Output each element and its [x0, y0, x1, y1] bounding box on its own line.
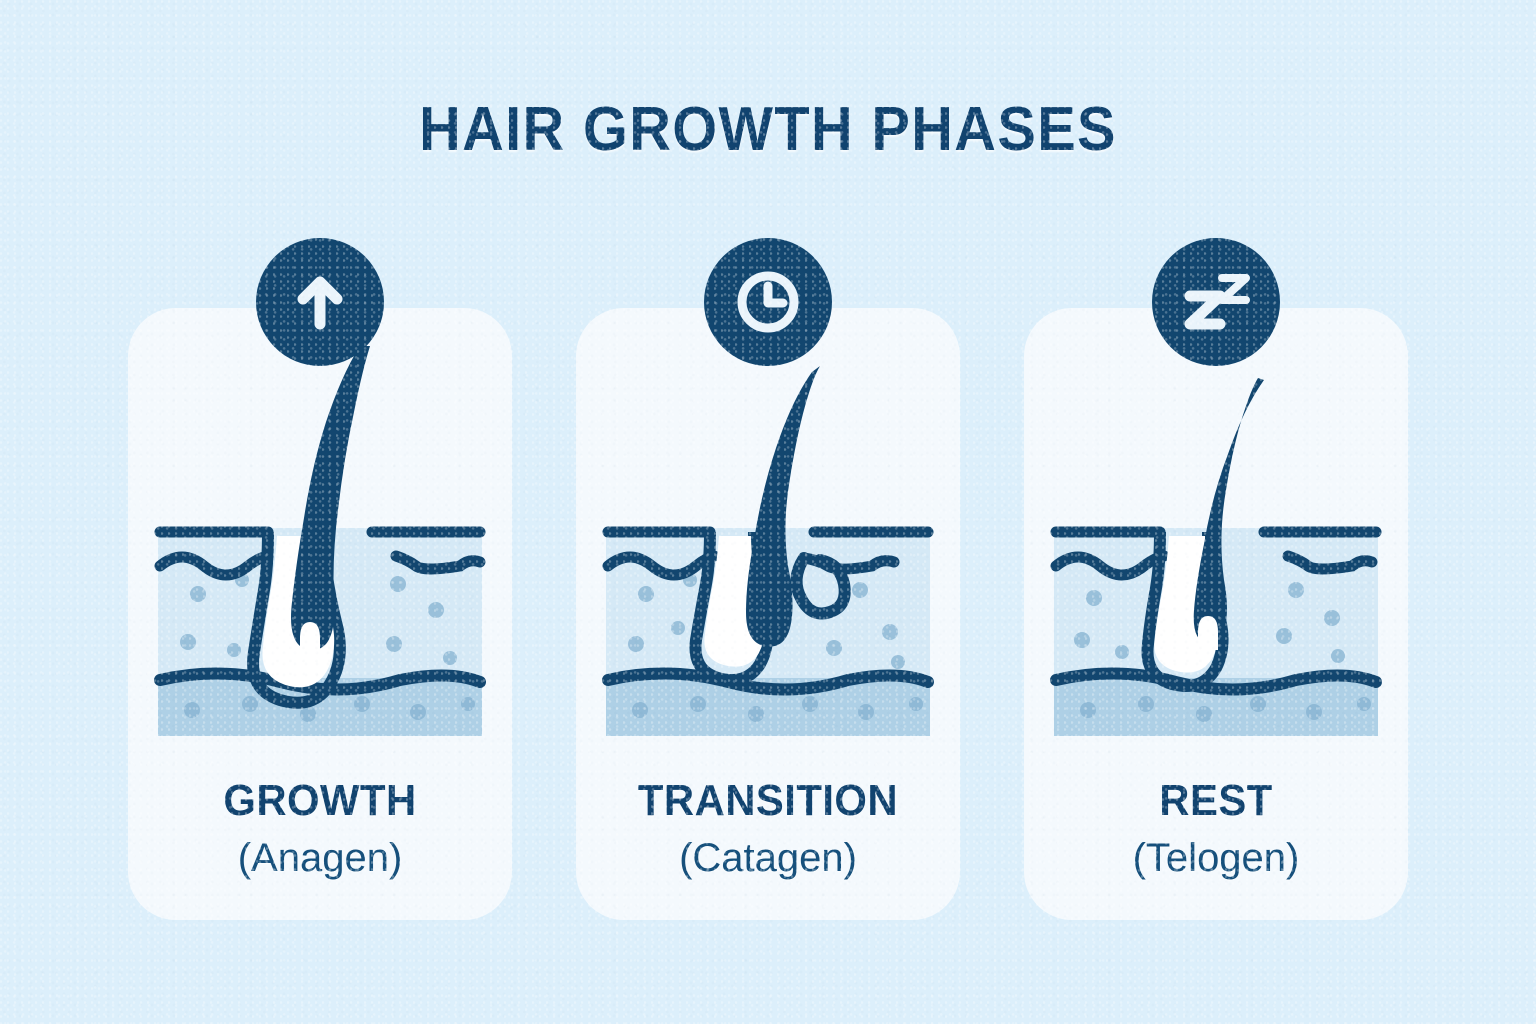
hair-follicle-catagen-diagram	[598, 332, 938, 752]
phase-card-transition[interactable]: TRANSITION (Catagen)	[576, 308, 960, 920]
phase-card-rest[interactable]: REST (Telogen)	[1024, 308, 1408, 920]
phase-card-growth[interactable]: GROWTH (Anagen)	[128, 308, 512, 920]
sleep-zzz-icon	[1176, 266, 1256, 338]
phase-card-list: GROWTH (Anagen)	[128, 308, 1408, 920]
hair-follicle-anagen-diagram	[150, 332, 490, 752]
badge-rest[interactable]	[1152, 238, 1280, 366]
badge-transition[interactable]	[704, 238, 832, 366]
phase-labels-growth: GROWTH (Anagen)	[128, 776, 512, 882]
up-arrow-icon	[287, 269, 353, 335]
phase-labels-rest: REST (Telogen)	[1024, 776, 1408, 882]
phase-name: GROWTH	[138, 776, 503, 826]
clock-icon	[732, 266, 804, 338]
phase-scientific-name: (Catagen)	[576, 834, 960, 882]
phase-scientific-name: (Anagen)	[128, 834, 512, 882]
phase-scientific-name: (Telogen)	[1024, 834, 1408, 882]
badge-growth[interactable]	[256, 238, 384, 366]
page-title: HAIR GROWTH PHASES	[54, 95, 1482, 165]
phase-name: REST	[1034, 776, 1399, 826]
phase-name: TRANSITION	[586, 776, 951, 826]
phase-labels-transition: TRANSITION (Catagen)	[576, 776, 960, 882]
hair-follicle-telogen-diagram	[1046, 332, 1386, 752]
